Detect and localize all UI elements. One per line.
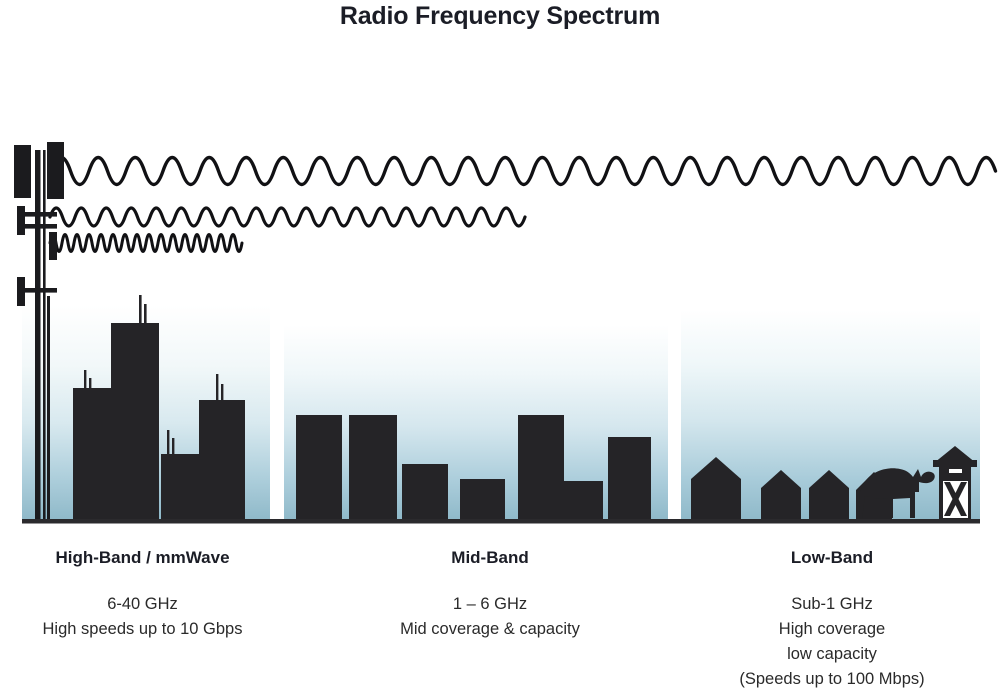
radio-waves: [50, 158, 996, 252]
tower-mast: [35, 150, 41, 520]
band-label-high-band: High-Band / mmWave: [0, 548, 285, 568]
band-description-high-band: 6-40 GHz High speeds up to 10 Gbps: [0, 592, 285, 642]
building-block: [460, 479, 505, 520]
band-coverage-low-band: High coverage: [682, 617, 982, 642]
rf-spectrum-infographic: Radio Frequency Spectrum: [0, 0, 1000, 700]
building-highrise: [73, 388, 111, 520]
building-midrise: [199, 400, 245, 520]
band-description-low-band: Sub-1 GHz High coverage low capacity (Sp…: [682, 592, 982, 692]
barn-vent: [949, 469, 962, 473]
band-label-low-band: Low-Band: [682, 548, 982, 568]
tower-antenna-panel-right: [47, 142, 64, 199]
ground-line: [22, 519, 980, 524]
tower-crossbar-upper: [22, 212, 57, 217]
band-capacity-low-band: low capacity: [682, 642, 982, 667]
band-frequency-low-band: Sub-1 GHz: [682, 592, 982, 617]
band-speed-mid-band: Mid coverage & capacity: [340, 617, 640, 642]
building-block: [296, 415, 342, 520]
band-frequency-high-band: 6-40 GHz: [0, 592, 285, 617]
tower-leg: [47, 296, 50, 520]
building-lowrise: [161, 454, 199, 520]
band-description-mid-band: 1 – 6 GHz Mid coverage & capacity: [340, 592, 640, 642]
tower-mast-secondary: [43, 150, 46, 520]
tower-crossbar-lower: [22, 288, 57, 293]
building-block: [608, 437, 651, 520]
short-wavelength-wave: [50, 235, 242, 252]
tower-antenna-panel-left: [14, 145, 31, 198]
tower-antenna-small-left-upper: [17, 206, 25, 235]
building-block: [402, 464, 448, 520]
band-frequency-mid-band: 1 – 6 GHz: [340, 592, 640, 617]
page-title: Radio Frequency Spectrum: [0, 2, 1000, 31]
spectrum-illustration: [0, 120, 1000, 530]
building-block: [349, 415, 397, 520]
building-block: [518, 415, 564, 520]
building-block: [564, 481, 603, 520]
band-speed-low-band: (Speeds up to 100 Mbps): [682, 667, 982, 692]
tower-crossbar-upper-2: [22, 224, 57, 229]
barn-roof-peak: [933, 460, 977, 467]
medium-wavelength-wave: [50, 208, 525, 226]
tower-antenna-small-right: [49, 232, 57, 260]
band-speed-high-band: High speeds up to 10 Gbps: [0, 617, 285, 642]
long-wavelength-wave: [52, 158, 996, 185]
band-label-mid-band: Mid-Band: [340, 548, 640, 568]
building-tower: [111, 323, 159, 520]
